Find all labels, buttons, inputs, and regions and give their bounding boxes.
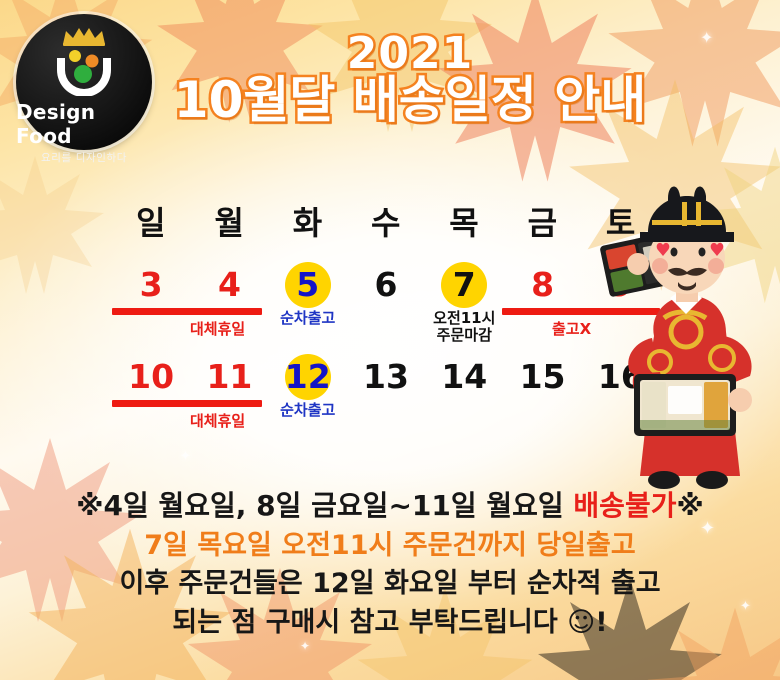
day-number: 13: [363, 358, 409, 396]
poster-canvas: ✦ ✦ ✦ ✦ ✦ ✦ Design Food 요리를 디자인하다 2021 1…: [0, 0, 780, 680]
day-number: 12: [285, 354, 331, 400]
brand-logo: Design Food 요리를 디자인하다: [16, 14, 152, 150]
day-cell[interactable]: 14: [425, 358, 503, 442]
page-title: 2021 10월달 배송일정 안내: [150, 32, 670, 126]
weekday-sun: 일: [112, 198, 190, 244]
notice-line-1-prefix: ※4일 월요일, 8일 금요일~11일 월요일: [76, 489, 573, 522]
notice-line-3: 이후 주문건들은 12일 화요일 부터 순차적 출고: [0, 566, 780, 601]
day-number: 14: [441, 358, 487, 396]
day-cell[interactable]: 12 순차출고: [269, 358, 347, 442]
maple-leaf-decoration: [0, 150, 110, 300]
title-main: 10월달 배송일정 안내: [150, 75, 670, 126]
notice-line-1-highlight: 배송불가: [573, 489, 676, 522]
sparkle-icon: ✦: [700, 30, 713, 46]
day-number: 15: [520, 358, 566, 396]
calendar-week-row: 10 11 12 순차출고 13 14 15 16 대체휴일: [112, 358, 660, 442]
bowl-mark-icon: [47, 48, 121, 96]
holiday-span-label: 대체휴일: [190, 318, 245, 339]
day-number: 10: [128, 358, 174, 396]
day-number: 11: [206, 358, 252, 396]
sparkle-icon: ✦: [180, 450, 191, 463]
weekday-fri: 금: [503, 198, 581, 244]
brand-tagline: 요리를 디자인하다: [41, 150, 127, 165]
no-shipping-span-label: 출고X: [552, 318, 591, 339]
holiday-span-bar: [112, 308, 262, 315]
day-note: 오전11시 주문마감: [425, 310, 503, 344]
day-cell[interactable]: 7 오전11시 주문마감: [425, 266, 503, 350]
day-number: 7: [441, 262, 487, 308]
brand-name: Design Food: [16, 100, 152, 148]
notice-line-2: 7일 목요일 오전11시 주문건까지 당일출고: [0, 528, 780, 563]
notice-line-1-suffix: ※: [676, 489, 703, 522]
weekday-mon: 월: [190, 198, 268, 244]
day-cell[interactable]: 5 순차출고: [269, 266, 347, 350]
weekday-thu: 목: [425, 198, 503, 244]
day-note: 순차출고: [269, 402, 347, 419]
delivery-calendar: 일 월 화 수 목 금 토 3 4 5 순차출고 6 7: [112, 198, 660, 442]
day-note: 순차출고: [269, 310, 347, 327]
day-cell[interactable]: 13: [347, 358, 425, 442]
weekday-tue: 화: [269, 198, 347, 244]
day-number: 6: [367, 266, 405, 304]
notice-line-1: ※4일 월요일, 8일 금요일~11일 월요일 배송불가※: [0, 488, 780, 524]
holiday-span-bar: [112, 400, 262, 407]
holiday-span-label: 대체휴일: [190, 410, 245, 431]
lunch-box-right: [634, 374, 736, 436]
notice-line-4: 되는 점 구매시 참고 부탁드립니다 ☺!: [0, 605, 780, 640]
sparkle-icon: ✦: [300, 640, 310, 652]
day-number: 3: [132, 266, 170, 304]
korean-king-mascot: [590, 186, 780, 492]
crown-icon: [61, 26, 107, 46]
calendar-week-row: 3 4 5 순차출고 6 7 오전11시 주문마감 8 9 대: [112, 266, 660, 350]
notice-block: ※4일 월요일, 8일 금요일~11일 월요일 배송불가※ 7일 목요일 오전1…: [0, 488, 780, 640]
day-number: 8: [524, 266, 562, 304]
weekday-wed: 수: [347, 198, 425, 244]
day-number: 4: [210, 266, 248, 304]
weekday-header-row: 일 월 화 수 목 금 토: [112, 198, 660, 244]
day-cell[interactable]: 15: [503, 358, 581, 442]
day-number: 5: [285, 262, 331, 308]
day-cell[interactable]: 6: [347, 266, 425, 350]
